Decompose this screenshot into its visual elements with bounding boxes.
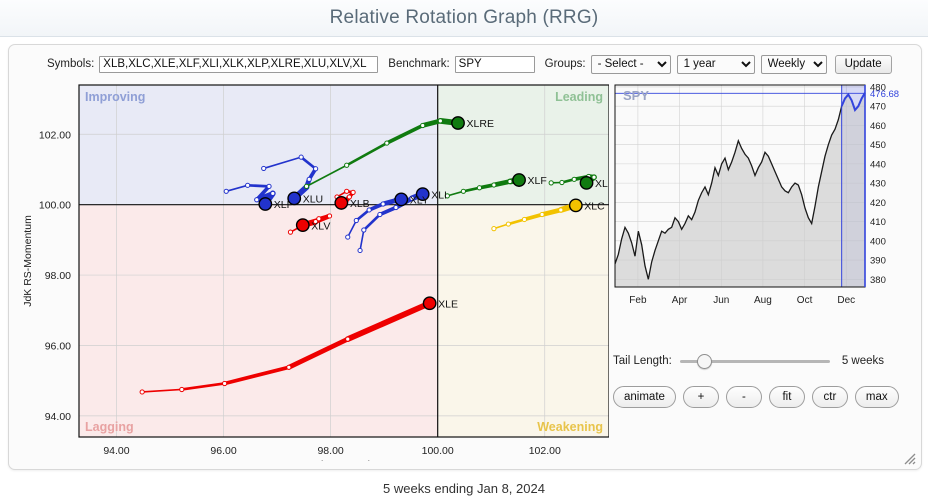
page-title: Relative Rotation Graph (RRG): [330, 7, 599, 29]
quadrant-label: Leading: [555, 90, 603, 104]
spy-last-value: 476.68: [870, 89, 899, 100]
spy-month-label: Apr: [672, 295, 688, 306]
spy-chart[interactable]: FebAprJunAugOctDec3803904004104204304404…: [613, 81, 913, 309]
series-label-XLU: XLU: [303, 194, 323, 206]
series-label-XLB: XLB: [350, 198, 370, 210]
spy-price-tick: 400: [870, 236, 886, 247]
spy-month-label: Jun: [713, 295, 729, 306]
series-label-XLK: XLK: [595, 178, 609, 190]
tail-length-row: Tail Length: 5 weeks: [613, 350, 913, 372]
spy-price-tick: 410: [870, 217, 886, 228]
slider-knob[interactable]: [697, 354, 712, 369]
symbols-input[interactable]: [99, 56, 378, 73]
tail-length-label: Tail Length:: [613, 355, 672, 367]
symbols-label: Symbols:: [47, 58, 94, 70]
spy-price-tick: 420: [870, 198, 886, 209]
series-label-XLY: XLY: [410, 195, 429, 207]
footer: 5 weeks ending Jan 8, 2024: [0, 476, 928, 500]
svg-text:100.00: 100.00: [422, 445, 454, 457]
svg-text:98.00: 98.00: [317, 445, 343, 457]
button-+[interactable]: +: [683, 386, 719, 408]
spy-price-tick: 430: [870, 179, 886, 190]
y-axis-title: JdK RS-Momentum: [22, 215, 34, 307]
action-buttons: animate+-fitctrmax: [613, 385, 913, 409]
frequency-select[interactable]: Weekly: [761, 55, 827, 74]
x-axis-title: JdK RS-Ratio: [312, 459, 376, 461]
svg-text:94.00: 94.00: [45, 411, 71, 423]
quadrant-label: Weakening: [537, 420, 603, 434]
svg-text:96.00: 96.00: [210, 445, 236, 457]
series-label-XLV: XLV: [311, 220, 330, 232]
spy-price-tick: 380: [870, 275, 886, 286]
button-fit[interactable]: fit: [769, 386, 805, 408]
rrg-app: Relative Rotation Graph (RRG) Symbols: B…: [0, 0, 928, 504]
quadrant-label: Lagging: [85, 420, 134, 434]
series-label-XLRE: XLRE: [467, 118, 494, 130]
svg-text:102.00: 102.00: [39, 129, 71, 141]
spy-price-tick: 440: [870, 159, 886, 170]
spy-month-label: Aug: [754, 295, 772, 306]
series-label-XLI: XLI: [431, 189, 447, 201]
svg-text:98.00: 98.00: [45, 270, 71, 282]
spy-price-tick: 450: [870, 140, 886, 151]
spy-price-tick: 470: [870, 102, 886, 113]
groups-select[interactable]: - Select -: [591, 55, 671, 74]
groups-label: Groups:: [545, 58, 586, 70]
svg-text:102.00: 102.00: [529, 445, 561, 457]
toolbar: Symbols: Benchmark: Groups: - Select - 1…: [9, 51, 921, 77]
svg-text:96.00: 96.00: [45, 340, 71, 352]
period-select[interactable]: 1 year: [677, 55, 755, 74]
button-ctr[interactable]: ctr: [812, 386, 848, 408]
spy-month-label: Oct: [797, 295, 813, 306]
resize-grip-icon[interactable]: [902, 451, 916, 465]
benchmark-label: Benchmark:: [388, 58, 449, 70]
button-animate[interactable]: animate: [613, 386, 676, 408]
series-label-XLE: XLE: [438, 298, 458, 310]
spy-price-tick: 460: [870, 121, 886, 132]
footer-text: 5 weeks ending Jan 8, 2024: [383, 481, 545, 496]
rrg-svg: ImprovingLeadingLaggingWeakening94.0096.…: [17, 81, 609, 461]
tail-length-value: 5 weeks: [842, 355, 884, 367]
button--[interactable]: -: [726, 386, 762, 408]
spy-price-tick: 390: [870, 256, 886, 267]
spy-svg: FebAprJunAugOctDec3803904004104204304404…: [613, 81, 913, 309]
main-panel: Symbols: Benchmark: Groups: - Select - 1…: [8, 44, 922, 470]
title-bar: Relative Rotation Graph (RRG): [0, 0, 928, 37]
button-max[interactable]: max: [855, 386, 899, 408]
svg-text:100.00: 100.00: [39, 200, 71, 212]
series-label-XLF: XLF: [528, 175, 547, 187]
tail-length-slider[interactable]: [680, 354, 830, 368]
spy-month-label: Dec: [837, 295, 855, 306]
update-button[interactable]: Update: [835, 55, 892, 74]
spy-symbol-label: SPY: [623, 88, 649, 103]
series-label-XLC: XLC: [584, 201, 605, 213]
quadrant-label: Improving: [85, 90, 145, 104]
benchmark-input[interactable]: [455, 56, 535, 73]
svg-text:94.00: 94.00: [103, 445, 129, 457]
spy-month-label: Feb: [629, 295, 647, 306]
rrg-plot[interactable]: ImprovingLeadingLaggingWeakening94.0096.…: [17, 81, 609, 461]
